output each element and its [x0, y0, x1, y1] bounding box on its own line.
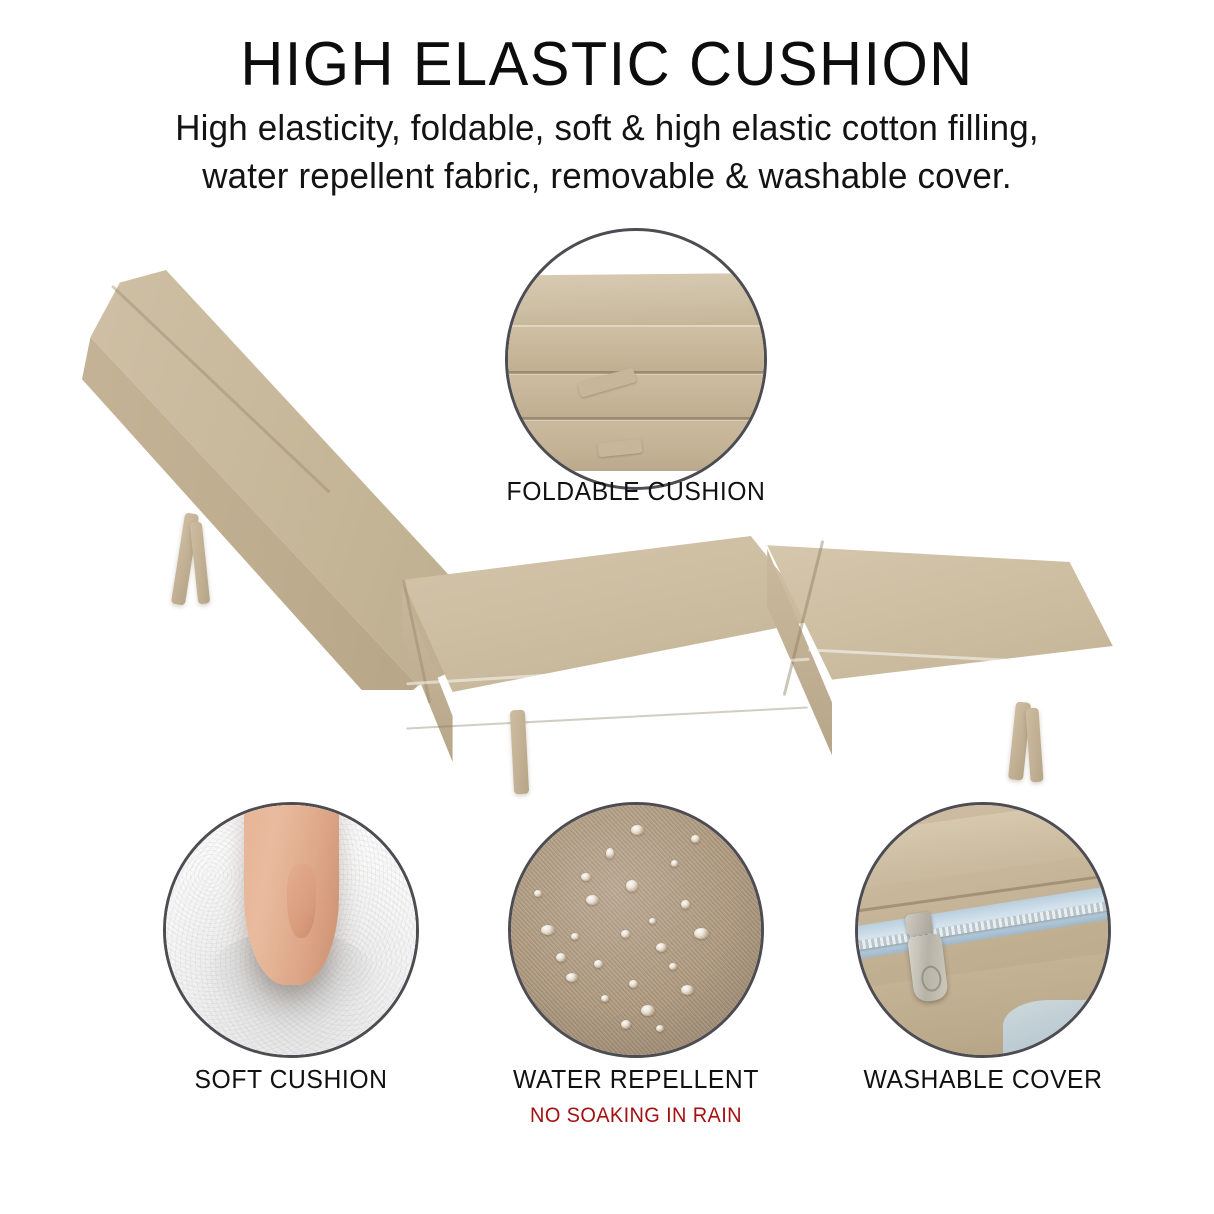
water-droplet [571, 933, 579, 940]
page-title: HIGH ELASTIC CUSHION [24, 32, 1189, 98]
water-droplet [606, 848, 614, 859]
feature-sublabel-water-repellent: NO SOAKING IN RAIN [446, 1104, 826, 1128]
zipper-slider-icon [904, 911, 933, 937]
subtitle-line-1: High elasticity, foldable, soft & high e… [76, 104, 1137, 152]
water-droplet [601, 995, 609, 1002]
water-droplet [671, 860, 678, 867]
cushion-middle-panel [398, 532, 818, 732]
water-droplet [631, 825, 644, 835]
hand-knuckle [287, 864, 316, 938]
hand-pressing-icon [244, 802, 339, 985]
water-droplet [621, 1020, 631, 1029]
feature-circle-foldable [505, 228, 767, 490]
water-droplet [669, 963, 677, 970]
feature-circle-water-repellent [508, 802, 764, 1058]
water-droplet [534, 890, 542, 897]
water-droplet [566, 973, 578, 982]
feature-circle-soft [163, 802, 419, 1058]
folded-stack-top-face [505, 273, 767, 331]
feature-label-soft: SOFT CUSHION [101, 1064, 481, 1095]
water-droplet [694, 928, 709, 939]
water-droplet [626, 880, 638, 892]
water-droplet [581, 873, 591, 881]
folded-stack-seam-1 [505, 371, 767, 374]
water-droplet [681, 985, 694, 995]
folded-stack-layer-1 [505, 325, 767, 377]
feature-circle-washable [855, 802, 1111, 1058]
folded-stack-seam-2 [505, 417, 767, 420]
feature-label-water-repellent: WATER REPELLENT [446, 1064, 826, 1095]
page-subtitle: High elasticity, foldable, soft & high e… [76, 104, 1137, 200]
subtitle-line-2: water repellent fabric, removable & wash… [76, 152, 1137, 200]
water-droplet [621, 930, 630, 938]
infographic-canvas: HIGH ELASTIC CUSHION High elasticity, fo… [0, 0, 1214, 1214]
water-droplet [691, 835, 700, 843]
folded-cushion-stack-icon [505, 273, 767, 473]
cushion-right-panel [760, 520, 1120, 730]
water-droplet [649, 918, 656, 924]
feature-label-washable: WASHABLE COVER [793, 1064, 1173, 1095]
water-droplet [681, 900, 690, 909]
middle-panel-top-face [398, 532, 818, 732]
water-droplet [541, 925, 555, 935]
water-droplet [629, 980, 638, 988]
water-droplet [594, 960, 603, 968]
water-droplet [641, 1005, 655, 1016]
water-droplet [586, 895, 599, 905]
water-droplet [656, 943, 667, 952]
water-droplet [656, 1025, 664, 1032]
feature-label-foldable: FOLDABLE CUSHION [446, 476, 826, 507]
cover-background-reflection [1003, 1000, 1111, 1058]
water-droplet [556, 953, 566, 962]
